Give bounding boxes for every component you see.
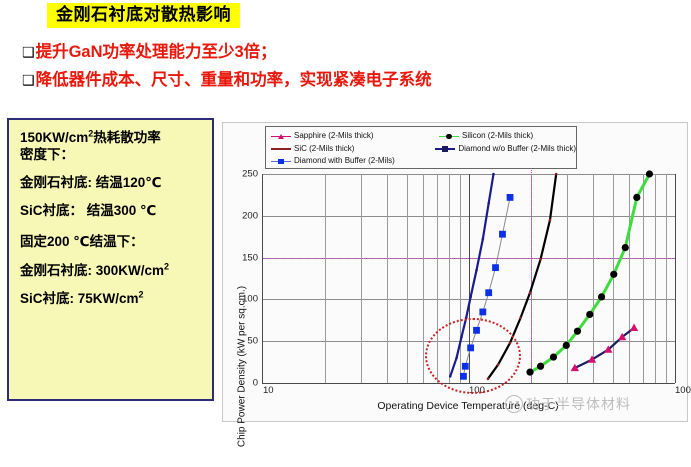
legend-label-diamond-wo-buffer: Diamond w/o Buffer (2-Mils thick) (458, 145, 576, 153)
sic-marker-icon (271, 144, 291, 154)
data-point-marker (610, 271, 617, 278)
data-point-marker (598, 293, 605, 300)
y-axis-tick-label: 50 (247, 336, 258, 347)
legend-row-1: Sapphire (2-Mils thick) Silicon (2-Mils … (271, 130, 576, 143)
bullet-square-icon: ❑ (22, 73, 35, 87)
sapphire-marker-icon (271, 131, 291, 141)
data-point-marker (633, 194, 640, 201)
legend-label-diamond-with-buffer: Diamond with Buffer (2-Mils) (294, 157, 395, 165)
data-point-marker (485, 289, 492, 296)
data-point-marker (507, 194, 514, 201)
info-line-3: 金刚石衬底: 结温120℃ (20, 175, 212, 190)
data-point-marker (529, 291, 532, 294)
info-line-1: 150KW/cm2热耗散功率 (20, 130, 212, 145)
legend-item-diamond-with-buffer[interactable]: Diamond with Buffer (2-Mils) (271, 156, 439, 166)
legend-item-sic[interactable]: SiC (2-Mils thick) (271, 144, 435, 154)
info-line-6: 金刚石衬底: 300KW/cm2 (20, 263, 212, 278)
y-axis-tick-label: 250 (242, 169, 258, 180)
watermark: 功于半导体材料 (505, 392, 680, 416)
data-point-marker (475, 269, 478, 272)
data-point-marker (586, 311, 593, 318)
page-title: 金刚石衬底对散热影响 (47, 3, 240, 28)
data-point-marker (499, 231, 506, 238)
y-axis-ticks: 050100150200250 (228, 174, 258, 383)
gridline-vertical (675, 174, 676, 383)
y-axis-tick-label: 100 (242, 294, 258, 305)
data-point-marker (492, 264, 499, 271)
bullet-list: ❑ 提升GaN功率处理能力至少3倍； ❑ 降低器件成本、尺寸、重量和功率，实现紧… (22, 44, 582, 99)
chart-legend: Sapphire (2-Mils thick) Silicon (2-Mils … (265, 126, 577, 169)
data-point-marker (550, 353, 557, 360)
legend-item-silicon[interactable]: Silicon (2-Mils thick) (439, 131, 533, 141)
data-point-marker (526, 369, 533, 376)
info-spacer (20, 220, 212, 234)
data-point-marker (519, 316, 522, 319)
watermark-text: 功于半导体材料 (526, 394, 631, 414)
data-point-marker (574, 328, 581, 335)
diamond-crossover-highlight (425, 318, 521, 394)
diamond-wo-buffer-marker-icon (435, 144, 455, 154)
bullet-item-2: ❑ 降低器件成本、尺寸、重量和功率，实现紧凑电子系统 (22, 72, 582, 89)
data-point-marker (622, 244, 629, 251)
data-point-marker (555, 173, 558, 176)
legend-label-sic: SiC (2-Mils thick) (294, 145, 354, 153)
legend-label-silicon: Silicon (2-Mils thick) (462, 132, 533, 140)
y-axis-tick-label: 200 (242, 210, 258, 221)
data-point-marker (539, 258, 542, 261)
legend-row-2: SiC (2-Mils thick) Diamond w/o Buffer (2… (271, 143, 576, 156)
legend-label-sapphire: Sapphire (2-Mils thick) (294, 132, 374, 140)
data-point-marker (630, 324, 638, 331)
y-axis-tick-label: 150 (242, 252, 258, 263)
legend-item-diamond-wo-buffer[interactable]: Diamond w/o Buffer (2-Mils thick) (435, 144, 576, 154)
x-axis-tick-label: 10 (263, 385, 274, 396)
data-point-marker (646, 170, 653, 177)
data-point-marker (563, 342, 570, 349)
legend-item-sapphire[interactable]: Sapphire (2-Mils thick) (271, 131, 439, 141)
bullet-text-2: 降低器件成本、尺寸、重量和功率，实现紧凑电子系统 (36, 72, 432, 89)
legend-row-3: Diamond with Buffer (2-Mils) (271, 155, 576, 168)
silicon-marker-icon (439, 131, 459, 141)
data-point-marker (492, 173, 495, 176)
data-point-marker (537, 363, 544, 370)
data-point-marker (482, 238, 485, 241)
series-silicon (526, 170, 653, 375)
info-line-5: 固定200 ℃结温下： (20, 234, 212, 249)
y-axis-tick-label: 0 (253, 378, 258, 389)
data-point-marker (549, 219, 552, 222)
info-line-7: SiC衬底: 75KW/cm2 (20, 291, 212, 306)
bullet-text-1: 提升GaN功率处理能力至少3倍； (36, 44, 277, 61)
bullet-item-1: ❑ 提升GaN功率处理能力至少3倍； (22, 44, 582, 61)
info-line-4: SiC衬底： 结温300 ℃ (20, 203, 212, 218)
bullet-square-icon: ❑ (22, 45, 35, 59)
info-line-2: 密度下： (20, 147, 212, 162)
data-point-marker (469, 296, 472, 299)
diamond-with-buffer-marker-icon (271, 156, 291, 166)
series-line (575, 328, 634, 368)
summary-callout-box: 150KW/cm2热耗散功率 密度下： 金刚石衬底: 结温120℃ SiC衬底：… (7, 118, 214, 401)
data-point-marker (487, 202, 490, 205)
data-point-marker (479, 309, 486, 316)
wechat-logo-icon (505, 395, 523, 413)
series-line (530, 174, 649, 372)
